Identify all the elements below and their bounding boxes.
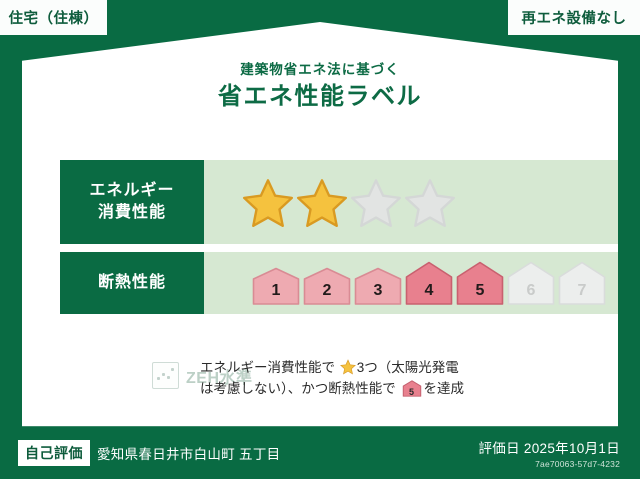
zeh-chart-icon xyxy=(152,362,179,389)
row-insulation-performance: 断熱性能 1234567 xyxy=(60,252,626,314)
title-block: 建築物省エネ法に基づく 省エネ性能ラベル xyxy=(22,62,618,112)
row-body-insulation: 1234567 xyxy=(204,252,626,314)
badge-building-type: 住宅（住棟） xyxy=(0,0,107,35)
house-icon: 5 xyxy=(402,380,422,397)
house-shape-icon xyxy=(507,261,555,305)
evaluation-id: 7ae70063-57d7-4232 xyxy=(478,459,620,469)
row-label-energy-line1: エネルギー xyxy=(89,180,174,202)
star-filled-icon xyxy=(296,177,348,227)
footer-left: 自己評価 愛知県春日井市白山町 五丁目 xyxy=(18,440,280,466)
house-icon-number: 5 xyxy=(402,388,422,397)
zeh-desc-text-a: エネルギー消費性能で xyxy=(200,360,335,375)
evaluation-date: 評価日 2025年10月1日 xyxy=(478,437,620,457)
row-label-insulation: 断熱性能 xyxy=(60,252,204,314)
badge-renewable-energy: 再エネ設備なし xyxy=(508,0,640,35)
star-empty-icon xyxy=(404,177,456,227)
star-filled-icon xyxy=(242,177,294,227)
house-shape-icon xyxy=(252,267,300,305)
insulation-level-6: 6 xyxy=(507,261,555,305)
star-empty-icon xyxy=(350,177,402,227)
row-label-energy: エネルギー 消費性能 xyxy=(60,160,204,244)
footer: 自己評価 愛知県春日井市白山町 五丁目 評価日 2025年10月1日 7ae70… xyxy=(0,426,640,479)
insulation-level-4: 4 xyxy=(405,261,453,305)
self-evaluation-badge: 自己評価 xyxy=(18,440,90,466)
insulation-level-scale: 1234567 xyxy=(242,261,606,305)
row-label-insulation-line1: 断熱性能 xyxy=(98,272,166,294)
row-body-energy xyxy=(204,160,626,244)
insulation-level-1: 1 xyxy=(252,267,300,305)
page-title: 省エネ性能ラベル xyxy=(22,83,618,112)
row-energy-performance: エネルギー 消費性能 xyxy=(60,160,626,244)
insulation-level-7: 7 xyxy=(558,261,606,305)
metric-rows: エネルギー 消費性能 断熱性能 1234567 xyxy=(60,160,626,322)
star-rating xyxy=(242,177,456,227)
energy-performance-label: 住宅（住棟） 再エネ設備なし 建築物省エネ法に基づく 省エネ性能ラベル エネルギ… xyxy=(0,0,640,479)
zeh-description-line1: エネルギー消費性能で 3つ（太陽光発電 xyxy=(200,358,626,379)
zeh-section: ZEH水準 エネルギー消費性能で 3つ（太陽光発電 は考慮しない）、かつ断熱性能… xyxy=(60,352,626,400)
zeh-desc-text-d: を達成 xyxy=(424,381,465,396)
house-shape-icon xyxy=(354,267,402,305)
property-address: 愛知県春日井市白山町 五丁目 xyxy=(97,443,280,463)
footer-divider xyxy=(22,426,618,427)
label-panel: 建築物省エネ法に基づく 省エネ性能ラベル エネルギー 消費性能 断熱性能 xyxy=(22,22,618,426)
insulation-level-5: 5 xyxy=(456,261,504,305)
zeh-desc-text-c: は考慮しない）、かつ断熱性能で xyxy=(200,381,396,396)
zeh-description: エネルギー消費性能で 3つ（太陽光発電 は考慮しない）、かつ断熱性能で 5 を達… xyxy=(178,352,626,400)
house-shape-icon xyxy=(456,261,504,305)
row-label-energy-line2: 消費性能 xyxy=(98,202,166,224)
house-shape-icon xyxy=(303,267,351,305)
star-icon xyxy=(340,359,356,375)
house-shape-icon xyxy=(405,261,453,305)
zeh-description-line2: は考慮しない）、かつ断熱性能で 5 を達成 xyxy=(200,379,626,400)
house-shape-icon xyxy=(558,261,606,305)
insulation-level-3: 3 xyxy=(354,267,402,305)
title-subtitle: 建築物省エネ法に基づく xyxy=(22,62,618,78)
zeh-mark: ZEH水準 xyxy=(60,352,178,389)
zeh-desc-text-b: 3つ（太陽光発電 xyxy=(357,360,459,375)
footer-right: 評価日 2025年10月1日 7ae70063-57d7-4232 xyxy=(478,437,620,469)
insulation-level-2: 2 xyxy=(303,267,351,305)
